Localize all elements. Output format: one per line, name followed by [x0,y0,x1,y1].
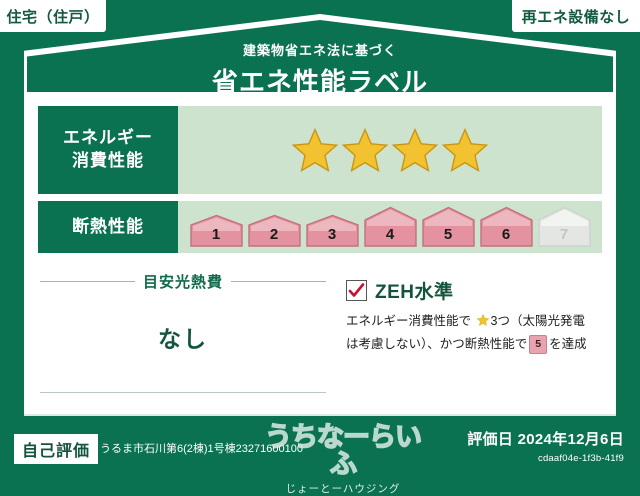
energy-performance-label-line1: エネルギー [63,127,153,150]
insulation-level-number: 6 [479,226,534,243]
insulation-level-chip: 5 [529,335,547,354]
header: 建築物省エネ法に基づく 省エネ性能ラベル [0,40,640,99]
insulation-level-house: 6 [479,206,534,248]
lower-section: 目安光熱費 なし ZEH水準 エネルギー消費性能で [24,261,616,413]
insulation-level-house: 1 [189,214,244,248]
label-card: エネルギー 消費性能 断熱性能 1234567 目安光熱費 なし [24,92,616,414]
rule-right [231,281,326,282]
badge-building-type-label: 住宅（住戸） [6,6,99,27]
star-icon-inline [476,313,490,334]
zeh-desc-part3: を達成 [549,337,587,351]
star-icon [441,126,489,174]
insulation-level-number: 2 [247,226,302,243]
utility-cost-heading-text: 目安光熱費 [143,271,223,292]
energy-performance-row: エネルギー 消費性能 [38,106,602,194]
self-evaluation-badge: 自己評価 [14,434,98,464]
star-rating [291,126,489,174]
insulation-level-house: 3 [305,214,360,248]
zeh-desc-part2: は考慮しない）、かつ断熱性能で [346,337,527,351]
zeh-desc-part1: エネルギー消費性能で [346,314,471,328]
utility-cost-value: なし [40,320,326,354]
zeh-description: エネルギー消費性能で 3つ（太陽光発電 は考慮しない）、かつ断熱性能で5を達成 [346,311,606,354]
energy-performance-label: エネルギー 消費性能 [38,106,178,194]
star-icon [391,126,439,174]
footer-divider [24,414,616,416]
evaluation-date: 評価日 2024年12月6日 [467,428,624,449]
evaluation-id: cdaaf04e-1f3b-41f9 [467,453,624,464]
utility-cost-block: 目安光熱費 なし [24,261,342,413]
insulation-level-number: 5 [421,226,476,243]
rule-left [40,281,135,282]
self-evaluation-label: 自己評価 [22,443,90,460]
insulation-performance-label-text: 断熱性能 [72,216,144,239]
zeh-title: ZEH水準 [375,277,454,304]
energy-performance-value [178,106,602,194]
checkbox-zeh[interactable] [346,280,367,301]
insulation-level-number: 4 [363,226,418,243]
zeh-heading: ZEH水準 [346,277,606,304]
watermark-sub-text: じょーとーハウジング [258,481,428,496]
badge-renewable-energy: 再エネ設備なし [512,0,640,32]
utility-cost-bottom-rule [40,392,326,393]
insulation-performance-value: 1234567 [178,201,602,253]
star-icon [291,126,339,174]
watermark: うちなーらいふ じょーとーハウジング [258,424,428,496]
page-title: 省エネ性能ラベル [0,62,640,99]
energy-performance-label-line2: 消費性能 [63,150,153,173]
insulation-level-scale: 1234567 [189,206,592,248]
insulation-level-number: 7 [537,226,592,243]
insulation-performance-label: 断熱性能 [38,201,178,253]
insulation-level-number: 3 [305,226,360,243]
badge-renewable-energy-label: 再エネ設備なし [522,6,631,27]
insulation-performance-row: 断熱性能 1234567 [38,201,602,253]
zeh-desc-stars: 3つ（太陽光発電 [491,314,585,328]
check-icon [348,282,365,299]
insulation-level-house: 4 [363,206,418,248]
evaluation-date-block: 評価日 2024年12月6日 cdaaf04e-1f3b-41f9 [467,428,624,464]
star-icon [341,126,389,174]
footer: 自己評価 うるま市石川第6(2棟)1号棟23271600100 うちなーらいふ … [0,414,640,480]
header-subtitle: 建築物省エネ法に基づく [0,40,640,59]
insulation-level-house: 5 [421,206,476,248]
utility-cost-heading: 目安光熱費 [40,271,326,292]
insulation-level-house: 7 [537,206,592,248]
badge-building-type: 住宅（住戸） [0,0,106,32]
insulation-level-house: 2 [247,214,302,248]
insulation-level-number: 1 [189,226,244,243]
zeh-block: ZEH水準 エネルギー消費性能で 3つ（太陽光発電 は考慮しない）、かつ断熱性能… [342,261,616,413]
property-address: うるま市石川第6(2棟)1号棟23271600100 [100,440,303,456]
